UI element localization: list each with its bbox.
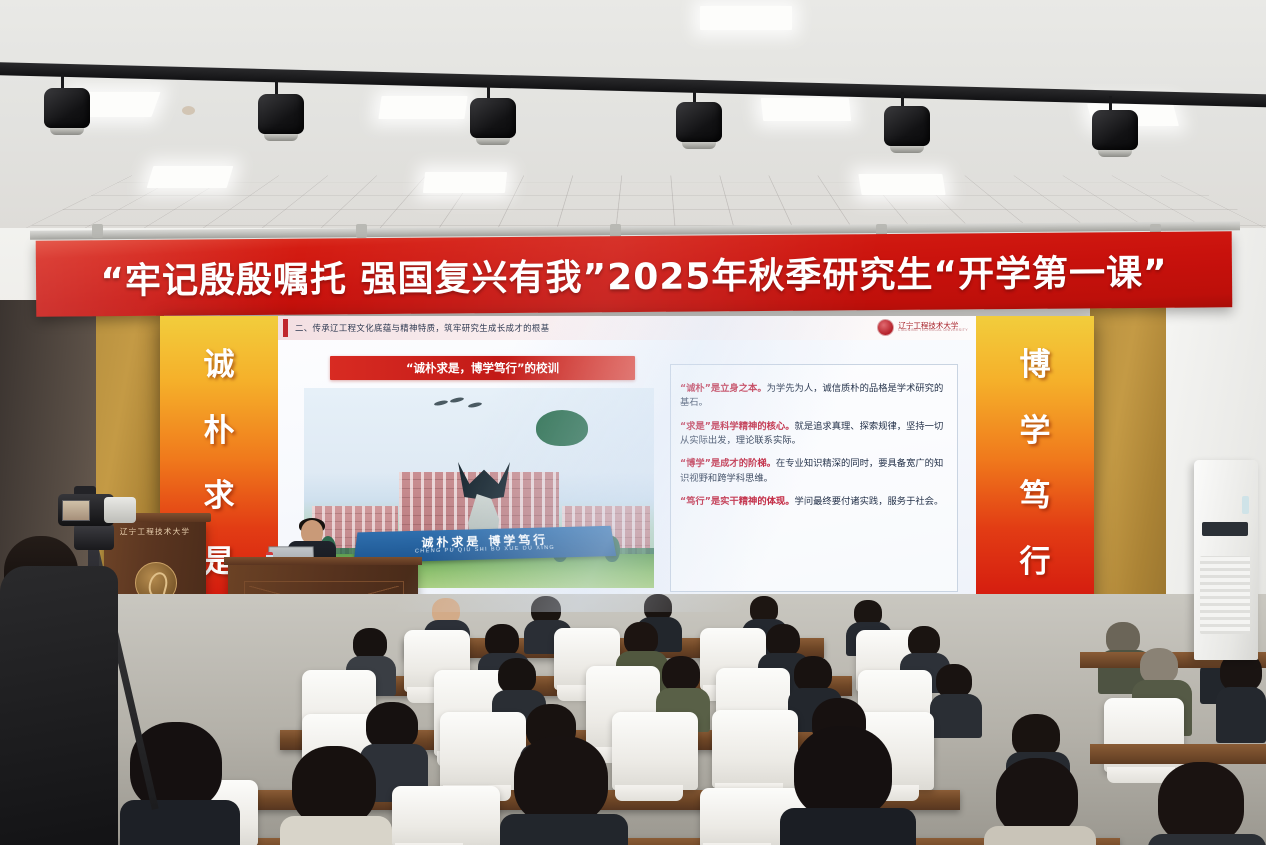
event-banner: “牢记殷殷嘱托 强国复兴有我”2025年秋季研究生“开学第一课” [36, 231, 1233, 316]
head [366, 702, 418, 750]
motto-char: 学 [1020, 416, 1051, 447]
torso [984, 826, 1096, 845]
motto-char: 行 [1020, 547, 1051, 578]
smoke-detector-icon [182, 106, 195, 115]
paragraph-rest: 学问最终要付诸实践，服务于社会。 [795, 496, 944, 507]
tree-shape [536, 410, 588, 446]
torso [280, 816, 392, 845]
audience-chair [392, 786, 500, 845]
slide-paragraph: “笃行”是实干精神的体现。学问最终要付诸实践，服务于社会。 [680, 495, 948, 509]
university-logo: 辽宁工程技术大学 LIAONING TECHNICAL UNIVERSITY [877, 319, 968, 336]
paragraph-lead: “求是” [680, 421, 711, 432]
ceiling-panel-light [147, 166, 234, 188]
head [794, 726, 892, 818]
ac-vent [1200, 556, 1250, 634]
torso [500, 814, 628, 845]
slide-paragraph: “诚朴”是立身之本。为学先为人，诚信质朴的品格是学术研究的基石。 [680, 382, 948, 410]
slide-paragraph: “求是”是科学精神的核心。就是追求真理、探索规律，坚持一切从实际出发，理论联系实… [680, 420, 948, 448]
motto-char: 朴 [204, 416, 235, 447]
ceiling-panel-light [423, 172, 507, 193]
camera-operator: 化 [0, 566, 118, 845]
stage-spotlight [884, 100, 930, 154]
motto-char: 求 [204, 481, 235, 512]
slide-paragraph: “博学”是成才的阶梯。在专业知识精深的同时，要具备宽广的知识视野和跨学科思维。 [680, 457, 948, 485]
head [794, 656, 832, 692]
lighting-truss [0, 62, 1266, 108]
head [292, 746, 376, 826]
audience-area [0, 594, 1266, 845]
stage-spotlight [1092, 104, 1138, 158]
audience-chair [712, 710, 798, 788]
paragraph-bold: 是成才的阶梯。 [711, 458, 776, 469]
slide-motto-title-text: “诚朴求是，博学笃行”的校训 [406, 360, 559, 376]
lecture-hall-photo: “牢记殷殷嘱托 强国复兴有我”2025年秋季研究生“开学第一课” 诚 朴 求 是… [0, 0, 1266, 845]
head [1140, 648, 1178, 684]
slide-text-panel: “诚朴”是立身之本。为学先为人，诚信质朴的品格是学术研究的基石。 “求是”是科学… [670, 364, 958, 592]
event-banner-text: “牢记殷殷嘱托 强国复兴有我”2025年秋季研究生“开学第一课” [100, 244, 1168, 304]
paragraph-lead: “笃行” [680, 496, 711, 507]
motto-char: 诚 [204, 350, 235, 381]
ceiling [0, 0, 1266, 232]
slide-header-bar: 二、传承辽工程文化底蕴与精神特质，筑牢研究生成长成才的根基 辽宁工程技术大学 L… [278, 316, 976, 340]
head [498, 658, 536, 694]
ceiling-panel-light [761, 98, 851, 121]
camera-lcd-screen [62, 500, 90, 521]
banner-clip [92, 224, 103, 238]
ceiling-panel-light [858, 174, 945, 195]
slide-header-tick [283, 319, 288, 337]
motto-char: 博 [1020, 350, 1051, 381]
head [936, 664, 972, 698]
audience-chair [612, 712, 698, 790]
paragraph-lead: “博学” [680, 458, 711, 469]
stage-spotlight [44, 82, 90, 136]
led-right-motto-column: 博 学 笃 行 [976, 316, 1094, 612]
slide-header-text: 二、传承辽工程文化底蕴与精神特质，筑牢研究生成长成才的根基 [295, 322, 549, 334]
ac-indicator-icon [1242, 496, 1249, 514]
stage-spotlight [258, 88, 304, 142]
audience-desk [1090, 744, 1266, 764]
torso [1148, 834, 1266, 845]
head [996, 758, 1078, 836]
paragraph-bold: 是立身之本。 [711, 383, 767, 394]
slide-motto-title: “诚朴求是，博学笃行”的校训 [330, 356, 635, 380]
banner-clip [356, 224, 367, 238]
stage-spotlight [676, 96, 722, 150]
dslr-camera [58, 486, 136, 530]
paragraph-bold: 是科学精神的核心。 [711, 421, 795, 432]
wood-wall-panel-right [1090, 300, 1166, 600]
paragraph-lead: “诚朴” [680, 383, 711, 394]
head [514, 736, 608, 824]
camera-lens [104, 497, 136, 523]
torso [780, 808, 916, 845]
air-conditioner [1194, 460, 1258, 660]
motto-char: 笃 [1020, 481, 1051, 512]
head [1158, 762, 1244, 844]
birds-icon [434, 398, 504, 412]
torso [1216, 687, 1266, 743]
ac-display [1202, 522, 1248, 536]
university-logo-en: LIAONING TECHNICAL UNIVERSITY [898, 329, 968, 333]
paragraph-bold: 是实干精神的体现。 [711, 496, 795, 507]
ceiling-panel-light [378, 96, 467, 119]
head [662, 656, 700, 692]
torso [930, 694, 982, 738]
university-crest-icon [877, 319, 894, 336]
ceiling-panel-light [700, 6, 792, 30]
stage-spotlight [470, 92, 516, 146]
